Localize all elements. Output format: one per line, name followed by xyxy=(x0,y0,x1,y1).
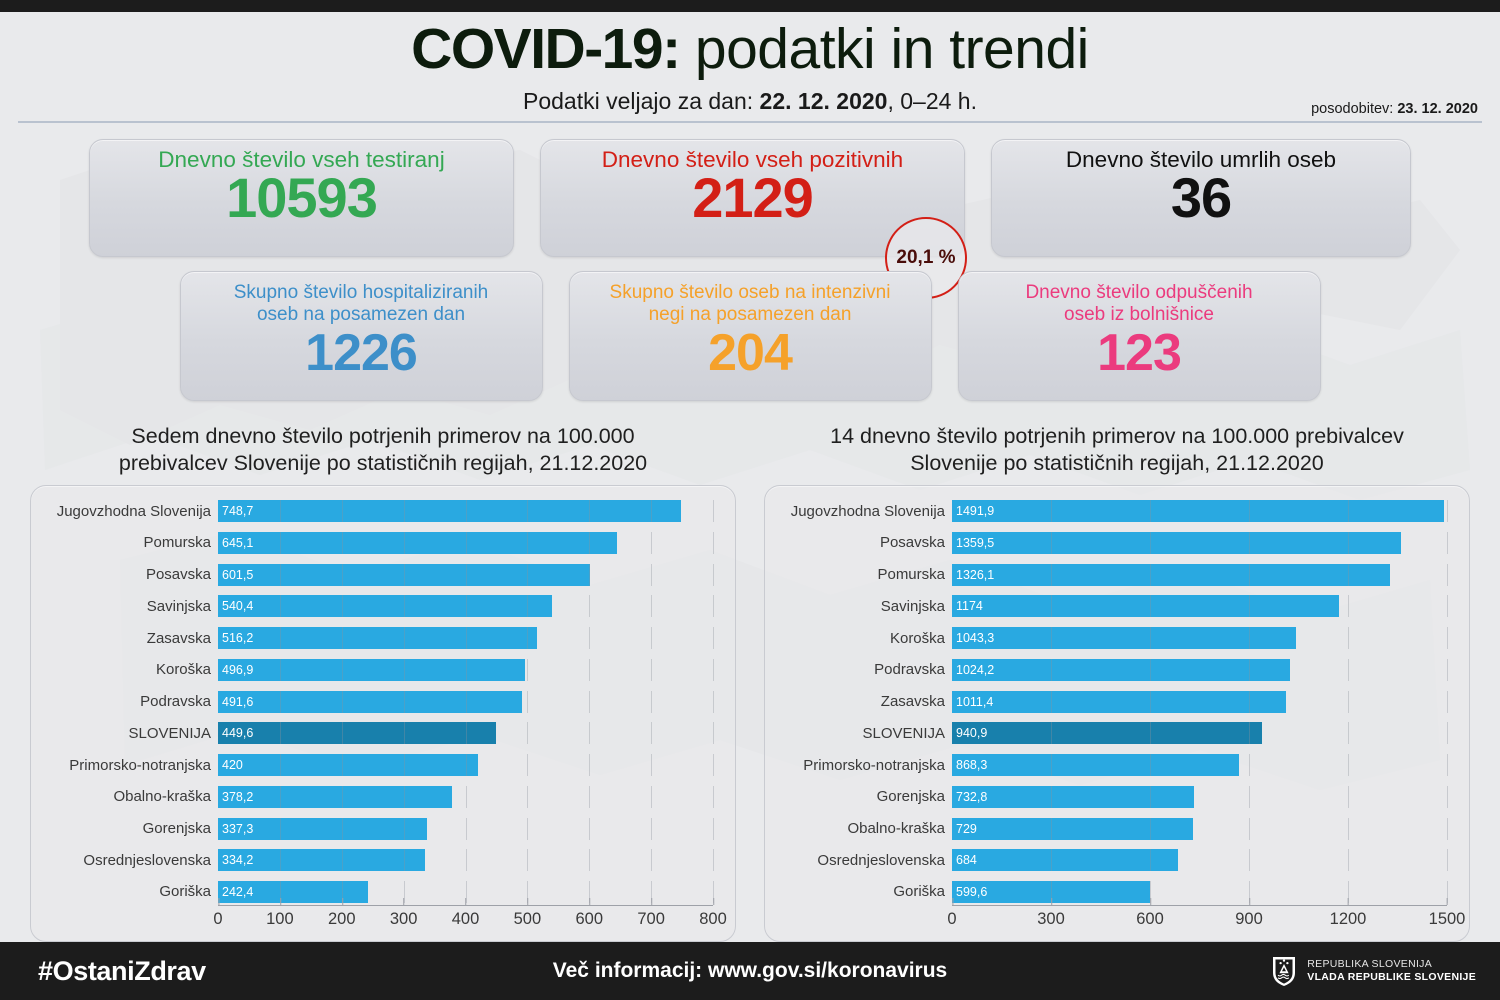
gridline xyxy=(1150,564,1151,586)
gridline xyxy=(589,754,590,776)
chart-seven-day-axis: 0100200300400500600700800 xyxy=(43,905,713,935)
card-hospitalized-value: 1226 xyxy=(199,328,524,379)
bar-row: Jugovzhodna Slovenija748,7 xyxy=(43,500,713,522)
gridline xyxy=(1348,691,1349,713)
bar-fill: 378,2 xyxy=(218,786,452,808)
charts-area: Sedem dnevno število potrjenih primerov … xyxy=(0,401,1500,942)
bar-value-label: 1024,2 xyxy=(952,663,994,677)
gridline xyxy=(1249,722,1250,744)
gridline xyxy=(404,500,405,522)
gridline xyxy=(527,659,528,681)
gridline xyxy=(527,627,528,649)
bar-label: Gorenjska xyxy=(43,820,218,837)
gridline xyxy=(280,595,281,617)
gridline xyxy=(466,754,467,776)
gridline xyxy=(1249,754,1250,776)
bar-value-label: 1011,4 xyxy=(952,695,993,709)
gridline xyxy=(404,659,405,681)
gridline xyxy=(466,532,467,554)
gridline xyxy=(527,818,528,840)
gridline xyxy=(1447,532,1448,554)
last-updated: posodobitev: 23. 12. 2020 xyxy=(1311,101,1478,117)
card-released-label-line2: oseb iz bolnišnice xyxy=(1064,304,1214,325)
gridline xyxy=(1051,595,1052,617)
chart-fourteen-day-axis-ticks: 030060090012001500 xyxy=(952,905,1447,935)
bar-track: 449,6 xyxy=(218,722,713,744)
gridline xyxy=(651,500,652,522)
bar-row: Savinjska1174 xyxy=(777,595,1447,617)
gridline xyxy=(342,532,343,554)
gridline xyxy=(1447,595,1448,617)
bar-fill: 940,9 xyxy=(952,722,1262,744)
gridline xyxy=(280,786,281,808)
bar-row: SLOVENIJA449,6 xyxy=(43,722,713,744)
bar-track: 496,9 xyxy=(218,659,713,681)
bar-label: SLOVENIJA xyxy=(43,725,218,742)
bar-row: Savinjska540,4 xyxy=(43,595,713,617)
bar-fill: 449,6 xyxy=(218,722,496,744)
bar-value-label: 242,4 xyxy=(218,885,253,899)
bar-label: Obalno-kraška xyxy=(777,820,952,837)
bar-fill: 645,1 xyxy=(218,532,617,554)
bar-row: Posavska601,5 xyxy=(43,564,713,586)
bar-value-label: 599,6 xyxy=(952,885,987,899)
card-daily-positives-value: 2129 xyxy=(559,171,946,226)
bar-label: Posavska xyxy=(777,534,952,551)
bar-track: 491,6 xyxy=(218,691,713,713)
chart-fourteen-day-title-line1: 14 dnevno število potrjenih primerov na … xyxy=(830,424,1404,448)
card-hospitalized-label-line2: oseb na posamezen dan xyxy=(257,304,465,325)
bar-label: Osrednjeslovenska xyxy=(43,852,218,869)
gridline xyxy=(1249,532,1250,554)
bar-value-label: 334,2 xyxy=(218,853,253,867)
gridline xyxy=(342,627,343,649)
bar-value-label: 540,4 xyxy=(218,599,253,613)
bar-label: Jugovzhodna Slovenija xyxy=(43,503,218,520)
bar-fill: 1024,2 xyxy=(952,659,1290,681)
gridline xyxy=(589,564,590,586)
gridline xyxy=(280,564,281,586)
bar-fill: 1043,3 xyxy=(952,627,1296,649)
gridline xyxy=(280,691,281,713)
gridline xyxy=(404,849,405,871)
bar-label: Goriška xyxy=(43,883,218,900)
gridline xyxy=(1150,691,1151,713)
gridline xyxy=(589,849,590,871)
gridline xyxy=(1150,722,1151,744)
bar-label: Gorenjska xyxy=(777,788,952,805)
gridline xyxy=(651,595,652,617)
bar-fill: 540,4 xyxy=(218,595,552,617)
bar-track: 1174 xyxy=(952,595,1447,617)
card-intensive-care-label: Skupno število oseb na intenzivni negi n… xyxy=(588,282,913,326)
axis-tick: 1200 xyxy=(1330,905,1367,929)
card-hospitalized-label-line1: Skupno število hospitaliziranih xyxy=(234,282,489,303)
gridline xyxy=(466,818,467,840)
gridline xyxy=(1348,595,1349,617)
gridline xyxy=(342,849,343,871)
gridline xyxy=(1051,659,1052,681)
gridline xyxy=(1249,659,1250,681)
gridline xyxy=(1150,532,1151,554)
axis-tick: 300 xyxy=(390,905,418,929)
bar-value-label: 601,5 xyxy=(218,568,253,582)
gridline xyxy=(589,691,590,713)
bar-label: Koroška xyxy=(43,661,218,678)
hashtag-ostanizdrav: #OstaniZdrav xyxy=(38,956,206,987)
bar-fill: 337,3 xyxy=(218,818,427,840)
chart-seven-day-panel: Jugovzhodna Slovenija748,7Pomurska645,1P… xyxy=(30,485,736,942)
bar-value-label: 748,7 xyxy=(218,504,253,518)
gridline xyxy=(589,818,590,840)
bar-label: Jugovzhodna Slovenija xyxy=(777,503,952,520)
bar-label: Osrednjeslovenska xyxy=(777,852,952,869)
gridline xyxy=(404,786,405,808)
gridline xyxy=(280,532,281,554)
gridline xyxy=(1249,849,1250,871)
gridline xyxy=(713,564,714,586)
gridline xyxy=(404,564,405,586)
bar-label: Primorsko-notranjska xyxy=(777,757,952,774)
bar-value-label: 1043,3 xyxy=(952,631,994,645)
chart-fourteen-day-title-line2: Slovenije po statističnih regijah, 21.12… xyxy=(910,451,1324,475)
bar-label: Podravska xyxy=(43,693,218,710)
gridline xyxy=(589,627,590,649)
gridline xyxy=(527,500,528,522)
bar-value-label: 337,3 xyxy=(218,822,253,836)
gridline xyxy=(1051,627,1052,649)
gridline xyxy=(466,659,467,681)
gridline xyxy=(713,786,714,808)
gridline xyxy=(1348,818,1349,840)
bar-track: 729 xyxy=(952,818,1447,840)
bar-track: 378,2 xyxy=(218,786,713,808)
bar-row: Zasavska1011,4 xyxy=(777,691,1447,713)
gov-line-2: VLADA REPUBLIKE SLOVENIJE xyxy=(1307,971,1476,984)
bar-track: 940,9 xyxy=(952,722,1447,744)
card-hospitalized: Skupno število hospitaliziranih oseb na … xyxy=(180,271,543,401)
bar-track: 1491,9 xyxy=(952,500,1447,522)
gridline xyxy=(651,564,652,586)
bar-track: 1011,4 xyxy=(952,691,1447,713)
gridline xyxy=(651,627,652,649)
bar-track: 599,6 xyxy=(952,881,1447,903)
gridline xyxy=(651,818,652,840)
gridline xyxy=(713,532,714,554)
gridline xyxy=(1051,786,1052,808)
gridline xyxy=(342,786,343,808)
gridline xyxy=(713,500,714,522)
card-intensive-care-label-line2: negi na posamezen dan xyxy=(649,304,852,325)
card-daily-tests-value: 10593 xyxy=(108,171,495,226)
gridline xyxy=(404,722,405,744)
bar-value-label: 420 xyxy=(218,758,243,772)
gridline xyxy=(651,532,652,554)
gridline xyxy=(651,659,652,681)
gridline xyxy=(589,500,590,522)
stat-cards-row-1: Dnevno število vseh testiranj 10593 Dnev… xyxy=(0,139,1500,257)
gridline xyxy=(527,691,528,713)
gridline xyxy=(1348,722,1349,744)
bar-label: Obalno-kraška xyxy=(43,788,218,805)
bar-fill: 684 xyxy=(952,849,1178,871)
gridline xyxy=(1249,786,1250,808)
more-info-link[interactable]: Več informacij: www.gov.si/koronavirus xyxy=(553,959,947,983)
bar-label: Posavska xyxy=(43,566,218,583)
gridline xyxy=(1249,818,1250,840)
gridline xyxy=(1447,722,1448,744)
gridline xyxy=(589,595,590,617)
bar-track: 420 xyxy=(218,754,713,776)
bar-label: Zasavska xyxy=(777,693,952,710)
bar-value-label: 1174 xyxy=(952,599,983,613)
government-text: REPUBLIKA SLOVENIJA VLADA REPUBLIKE SLOV… xyxy=(1307,958,1476,984)
bar-fill: 516,2 xyxy=(218,627,537,649)
gridline xyxy=(527,532,528,554)
bar-value-label: 491,6 xyxy=(218,695,253,709)
gridline xyxy=(527,722,528,744)
gridline xyxy=(589,786,590,808)
gridline xyxy=(527,849,528,871)
bar-fill: 729 xyxy=(952,818,1193,840)
axis-tick: 1500 xyxy=(1429,905,1466,929)
bar-label: Pomurska xyxy=(43,534,218,551)
bar-track: 748,7 xyxy=(218,500,713,522)
gridline xyxy=(404,818,405,840)
chart-fourteen-day-panel: Jugovzhodna Slovenija1491,9Posavska1359,… xyxy=(764,485,1470,942)
gridline xyxy=(342,691,343,713)
gridline xyxy=(1447,849,1448,871)
axis-tick: 800 xyxy=(699,905,727,929)
gridline xyxy=(1249,500,1250,522)
gridline xyxy=(1051,532,1052,554)
bar-row: Goriška599,6 xyxy=(777,881,1447,903)
bar-value-label: 684 xyxy=(952,853,977,867)
slovenia-coat-of-arms-icon xyxy=(1271,955,1297,987)
bar-row: Osrednjeslovenska334,2 xyxy=(43,849,713,871)
bar-track: 1359,5 xyxy=(952,532,1447,554)
card-released: Dnevno število odpuščenih oseb iz bolniš… xyxy=(958,271,1321,401)
bar-fill: 1326,1 xyxy=(952,564,1390,586)
page-title-rest: podatki in trendi xyxy=(680,17,1089,81)
gridline xyxy=(713,691,714,713)
bar-row: Gorenjska337,3 xyxy=(43,818,713,840)
gridline xyxy=(713,849,714,871)
gridline xyxy=(280,818,281,840)
bar-row: Koroška1043,3 xyxy=(777,627,1447,649)
bar-fill: 420 xyxy=(218,754,478,776)
gridline xyxy=(1249,627,1250,649)
gridline xyxy=(1150,818,1151,840)
gridline xyxy=(1150,849,1151,871)
card-released-value: 123 xyxy=(977,328,1302,379)
gridline xyxy=(1051,691,1052,713)
bar-fill: 1491,9 xyxy=(952,500,1444,522)
bar-value-label: 1326,1 xyxy=(952,568,994,582)
bar-label: Pomurska xyxy=(777,566,952,583)
gridline xyxy=(280,722,281,744)
gridline xyxy=(1447,691,1448,713)
gridline xyxy=(1348,849,1349,871)
bar-value-label: 940,9 xyxy=(952,726,987,740)
gridline xyxy=(1447,659,1448,681)
page-title: COVID-19: podatki in trendi xyxy=(0,20,1500,80)
gov-line-1: REPUBLIKA SLOVENIJA xyxy=(1307,958,1476,971)
gridline xyxy=(280,659,281,681)
bar-label: Primorsko-notranjska xyxy=(43,757,218,774)
bar-track: 1043,3 xyxy=(952,627,1447,649)
gridline xyxy=(1447,500,1448,522)
updated-date: 23. 12. 2020 xyxy=(1397,101,1478,117)
axis-tick: 400 xyxy=(452,905,480,929)
gridline xyxy=(1150,627,1151,649)
gridline xyxy=(1150,754,1151,776)
gridline xyxy=(342,564,343,586)
gridline xyxy=(1348,786,1349,808)
bar-row: Zasavska516,2 xyxy=(43,627,713,649)
gridline xyxy=(1150,786,1151,808)
gridline xyxy=(651,786,652,808)
bar-label: Savinjska xyxy=(43,598,218,615)
card-hospitalized-label: Skupno število hospitaliziranih oseb na … xyxy=(199,282,524,326)
axis-tick: 600 xyxy=(575,905,603,929)
gridline xyxy=(1051,849,1052,871)
bar-track: 732,8 xyxy=(952,786,1447,808)
bar-value-label: 516,2 xyxy=(218,631,253,645)
gridline xyxy=(1348,754,1349,776)
axis-tick: 300 xyxy=(1037,905,1065,929)
bar-row: Obalno-kraška729 xyxy=(777,818,1447,840)
gridline xyxy=(404,691,405,713)
gridline xyxy=(1447,786,1448,808)
bar-track: 516,2 xyxy=(218,627,713,649)
axis-tick: 100 xyxy=(266,905,294,929)
chart-fourteen-day: 14 dnevno število potrjenih primerov na … xyxy=(764,423,1470,942)
bar-value-label: 729 xyxy=(952,822,977,836)
gridline xyxy=(651,849,652,871)
bar-fill: 748,7 xyxy=(218,500,681,522)
gridline xyxy=(527,564,528,586)
card-intensive-care: Skupno število oseb na intenzivni negi n… xyxy=(569,271,932,401)
card-intensive-care-value: 204 xyxy=(588,328,913,379)
bar-value-label: 1491,9 xyxy=(952,504,994,518)
card-intensive-care-label-line1: Skupno število oseb na intenzivni xyxy=(610,282,891,303)
bar-label: SLOVENIJA xyxy=(777,725,952,742)
gridline xyxy=(342,595,343,617)
gridline xyxy=(466,500,467,522)
chart-fourteen-day-axis: 030060090012001500 xyxy=(777,905,1447,935)
gridline xyxy=(713,818,714,840)
bar-fill: 1174 xyxy=(952,595,1339,617)
chart-fourteen-day-title: 14 dnevno število potrjenih primerov na … xyxy=(764,423,1470,476)
gridline xyxy=(651,722,652,744)
gridline xyxy=(589,532,590,554)
bar-row: Pomurska645,1 xyxy=(43,532,713,554)
gridline xyxy=(1447,818,1448,840)
bar-track: 337,3 xyxy=(218,818,713,840)
bar-row: Primorsko-notranjska868,3 xyxy=(777,754,1447,776)
gridline xyxy=(280,500,281,522)
card-released-label-line1: Dnevno število odpuščenih xyxy=(1025,282,1252,303)
gridline xyxy=(1051,722,1052,744)
bar-value-label: 645,1 xyxy=(218,536,253,550)
bar-row: Podravska1024,2 xyxy=(777,659,1447,681)
gridline xyxy=(527,595,528,617)
bar-fill: 1011,4 xyxy=(952,691,1286,713)
bar-label: Goriška xyxy=(777,883,952,900)
gridline xyxy=(466,564,467,586)
axis-tick: 0 xyxy=(213,905,222,929)
bar-row: Osrednjeslovenska684 xyxy=(777,849,1447,871)
gridline xyxy=(1249,564,1250,586)
gridline xyxy=(404,754,405,776)
bar-fill: 732,8 xyxy=(952,786,1194,808)
gridline xyxy=(1348,659,1349,681)
gridline xyxy=(713,595,714,617)
footer: #OstaniZdrav Več informacij: www.gov.si/… xyxy=(0,942,1500,1000)
gridline xyxy=(651,691,652,713)
gridline xyxy=(280,754,281,776)
data-validity-line: Podatki veljajo za dan: 22. 12. 2020, 0–… xyxy=(0,88,1500,115)
gridline xyxy=(713,754,714,776)
card-daily-tests: Dnevno število vseh testiranj 10593 xyxy=(89,139,514,257)
bar-track: 684 xyxy=(952,849,1447,871)
gridline xyxy=(713,722,714,744)
gridline xyxy=(589,722,590,744)
bar-fill: 334,2 xyxy=(218,849,425,871)
validity-prefix: Podatki veljajo za dan: xyxy=(523,88,760,114)
bar-row: Posavska1359,5 xyxy=(777,532,1447,554)
bar-track: 334,2 xyxy=(218,849,713,871)
axis-tick: 200 xyxy=(328,905,356,929)
card-daily-deaths-value: 36 xyxy=(1010,171,1392,226)
bar-label: Zasavska xyxy=(43,630,218,647)
government-branding: REPUBLIKA SLOVENIJA VLADA REPUBLIKE SLOV… xyxy=(1271,955,1476,987)
gridline xyxy=(1051,754,1052,776)
axis-tick: 0 xyxy=(947,905,956,929)
gridline xyxy=(1051,500,1052,522)
axis-tick: 500 xyxy=(514,905,542,929)
bar-row: Gorenjska732,8 xyxy=(777,786,1447,808)
gridline xyxy=(1150,659,1151,681)
bar-value-label: 732,8 xyxy=(952,790,987,804)
card-released-label: Dnevno število odpuščenih oseb iz bolniš… xyxy=(977,282,1302,326)
bar-row: Goriška242,4 xyxy=(43,881,713,903)
bar-fill: 868,3 xyxy=(952,754,1239,776)
gridline xyxy=(589,659,590,681)
header-divider xyxy=(18,121,1482,123)
gridline xyxy=(1150,500,1151,522)
bar-label: Savinjska xyxy=(777,598,952,615)
gridline xyxy=(404,532,405,554)
gridline xyxy=(1051,818,1052,840)
bar-fill: 496,9 xyxy=(218,659,525,681)
chart-seven-day-bars: Jugovzhodna Slovenija748,7Pomurska645,1P… xyxy=(43,500,713,903)
gridline xyxy=(1249,595,1250,617)
bar-value-label: 378,2 xyxy=(218,790,253,804)
gridline xyxy=(280,849,281,871)
gridline xyxy=(342,754,343,776)
gridline xyxy=(1150,595,1151,617)
chart-fourteen-day-bars: Jugovzhodna Slovenija1491,9Posavska1359,… xyxy=(777,500,1447,903)
gridline xyxy=(713,659,714,681)
bar-row: Koroška496,9 xyxy=(43,659,713,681)
chart-seven-day-title-line1: Sedem dnevno število potrjenih primerov … xyxy=(131,424,634,448)
gridline xyxy=(466,627,467,649)
bar-fill: 491,6 xyxy=(218,691,522,713)
bar-track: 1326,1 xyxy=(952,564,1447,586)
bar-track: 868,3 xyxy=(952,754,1447,776)
